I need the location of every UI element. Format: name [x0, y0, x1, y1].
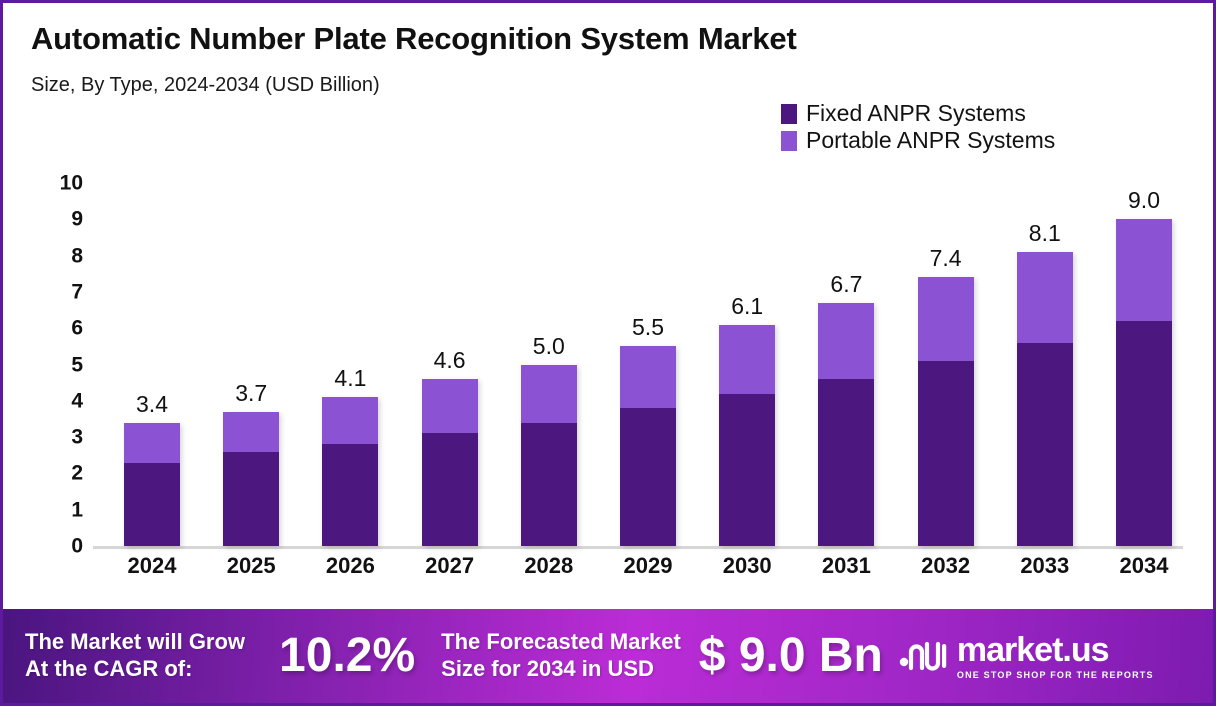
bar-segment-fixed-2030[interactable]	[719, 394, 775, 546]
bar-stack-2033[interactable]: 8.1	[1017, 252, 1073, 546]
bar-segment-fixed-2034[interactable]	[1116, 321, 1172, 546]
bar-group-2029[interactable]: 5.5	[620, 346, 676, 546]
x-axis-tick-2024: 2024	[107, 555, 197, 577]
bar-value-label-2030: 6.1	[731, 295, 763, 318]
bar-stack-2034[interactable]: 9.0	[1116, 219, 1172, 546]
chart-header: Automatic Number Plate Recognition Syste…	[3, 3, 1213, 97]
bar-segment-portable-2033[interactable]	[1017, 252, 1073, 343]
bar-value-label-2027: 4.6	[434, 349, 466, 372]
x-axis-line	[93, 546, 1183, 549]
bar-segment-fixed-2028[interactable]	[521, 423, 577, 546]
bar-group-2033[interactable]: 8.1	[1017, 252, 1073, 546]
plot-area: 012345678910 3.43.74.14.65.05.56.16.77.4…	[3, 183, 1216, 603]
bar-segment-portable-2032[interactable]	[918, 277, 974, 360]
bar-segment-portable-2026[interactable]	[322, 397, 378, 444]
forecast-caption: The Forecasted Market Size for 2034 in U…	[441, 629, 681, 683]
infographic-root: Automatic Number Plate Recognition Syste…	[0, 0, 1216, 706]
bar-segment-portable-2028[interactable]	[521, 365, 577, 423]
x-axis-tick-2027: 2027	[405, 555, 495, 577]
bar-group-2034[interactable]: 9.0	[1116, 219, 1172, 546]
bar-value-label-2026: 4.1	[334, 367, 366, 390]
x-axis-tick-2030: 2030	[702, 555, 792, 577]
bar-segment-fixed-2027[interactable]	[422, 433, 478, 546]
bar-segment-portable-2025[interactable]	[223, 412, 279, 452]
bar-value-label-2031: 6.7	[830, 273, 862, 296]
legend-label-fixed: Fixed ANPR Systems	[806, 102, 1026, 125]
x-axis-tick-2029: 2029	[603, 555, 693, 577]
bars-layer: 3.43.74.14.65.05.56.16.77.48.19.0	[3, 183, 1216, 546]
brand-name: market.us	[957, 633, 1154, 667]
chart-subtitle: Size, By Type, 2024-2034 (USD Billion)	[31, 74, 1213, 97]
legend-label-portable: Portable ANPR Systems	[806, 129, 1055, 152]
summary-banner: The Market will Grow At the CAGR of: 10.…	[3, 609, 1213, 703]
cagr-caption: The Market will Grow At the CAGR of:	[25, 629, 245, 683]
bar-stack-2028[interactable]: 5.0	[521, 365, 577, 547]
bar-segment-fixed-2033[interactable]	[1017, 343, 1073, 546]
x-axis-tick-2026: 2026	[305, 555, 395, 577]
cagr-value: 10.2%	[279, 632, 415, 680]
brand-logo[interactable]: market.us ONE STOP SHOP FOR THE REPORTS	[895, 633, 1154, 680]
bar-segment-fixed-2024[interactable]	[124, 463, 180, 546]
legend-item-portable[interactable]: Portable ANPR Systems	[781, 129, 1055, 152]
bar-value-label-2025: 3.7	[235, 382, 267, 405]
x-axis-tick-2033: 2033	[1000, 555, 1090, 577]
bar-value-label-2033: 8.1	[1029, 222, 1061, 245]
bar-stack-2025[interactable]: 3.7	[223, 412, 279, 546]
bar-group-2028[interactable]: 5.0	[521, 365, 577, 547]
bar-value-label-2032: 7.4	[930, 247, 962, 270]
bar-stack-2029[interactable]: 5.5	[620, 346, 676, 546]
bar-segment-portable-2034[interactable]	[1116, 219, 1172, 321]
bar-group-2024[interactable]: 3.4	[124, 423, 180, 546]
x-axis-tick-2034: 2034	[1099, 555, 1189, 577]
page-title: Automatic Number Plate Recognition Syste…	[31, 21, 1213, 57]
bar-stack-2030[interactable]: 6.1	[719, 325, 775, 546]
legend-swatch-fixed-icon	[781, 104, 797, 124]
legend-swatch-portable-icon	[781, 131, 797, 151]
bar-stack-2031[interactable]: 6.7	[818, 303, 874, 546]
bar-stack-2026[interactable]: 4.1	[322, 397, 378, 546]
bar-group-2025[interactable]: 3.7	[223, 412, 279, 546]
x-axis-tick-2028: 2028	[504, 555, 594, 577]
x-axis-tick-2032: 2032	[901, 555, 991, 577]
brand-text: market.us ONE STOP SHOP FOR THE REPORTS	[957, 633, 1154, 680]
x-axis-tick-2025: 2025	[206, 555, 296, 577]
market-us-logo-icon	[895, 634, 949, 679]
legend-item-fixed[interactable]: Fixed ANPR Systems	[781, 102, 1055, 125]
forecast-value: $ 9.0 Bn	[699, 632, 883, 680]
bar-value-label-2028: 5.0	[533, 335, 565, 358]
bar-value-label-2034: 9.0	[1128, 189, 1160, 212]
bar-segment-portable-2024[interactable]	[124, 423, 180, 463]
bar-group-2027[interactable]: 4.6	[422, 379, 478, 546]
bar-segment-portable-2031[interactable]	[818, 303, 874, 379]
bar-segment-fixed-2031[interactable]	[818, 379, 874, 546]
bar-stack-2024[interactable]: 3.4	[124, 423, 180, 546]
bar-stack-2032[interactable]: 7.4	[918, 277, 974, 546]
bar-value-label-2029: 5.5	[632, 316, 664, 339]
bar-group-2032[interactable]: 7.4	[918, 277, 974, 546]
chart-legend: Fixed ANPR Systems Portable ANPR Systems	[781, 102, 1055, 152]
bar-segment-fixed-2025[interactable]	[223, 452, 279, 546]
bar-segment-fixed-2029[interactable]	[620, 408, 676, 546]
bar-stack-2027[interactable]: 4.6	[422, 379, 478, 546]
bar-group-2031[interactable]: 6.7	[818, 303, 874, 546]
bar-segment-portable-2029[interactable]	[620, 346, 676, 408]
bar-segment-fixed-2032[interactable]	[918, 361, 974, 546]
bar-segment-portable-2030[interactable]	[719, 325, 775, 394]
bar-group-2026[interactable]: 4.1	[322, 397, 378, 546]
brand-tagline: ONE STOP SHOP FOR THE REPORTS	[957, 670, 1154, 680]
bar-value-label-2024: 3.4	[136, 393, 168, 416]
bar-segment-fixed-2026[interactable]	[322, 444, 378, 546]
bar-group-2030[interactable]: 6.1	[719, 325, 775, 546]
x-axis: 2024202520262027202820292030203120322033…	[3, 555, 1216, 595]
x-axis-tick-2031: 2031	[801, 555, 891, 577]
bar-segment-portable-2027[interactable]	[422, 379, 478, 433]
